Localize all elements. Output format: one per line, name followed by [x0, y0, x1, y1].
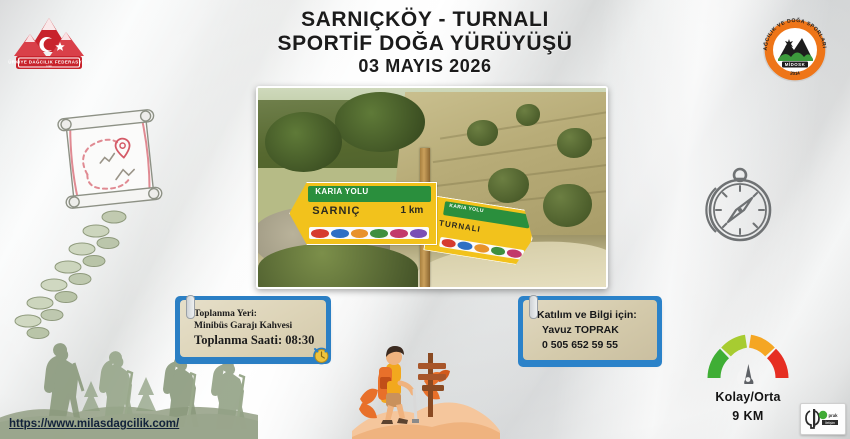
- difficulty-level: Kolay/Orta: [705, 390, 791, 404]
- svg-text:TÜRKİYE DAĞCILIK FEDERASYONU: TÜRKİYE DAĞCILIK FEDERASYONU: [8, 60, 90, 65]
- hiker-illustration: [352, 319, 500, 439]
- alarm-clock-icon: [311, 345, 332, 366]
- federation-logo: TÜRKİYE DAĞCILIK FEDERASYONU 1989: [8, 12, 90, 78]
- sign-sarnic: KARIA YOLU SARNIÇ 1 km: [289, 182, 437, 246]
- svg-text:prak: prak: [829, 413, 839, 418]
- svg-text:MİDOSK: MİDOSK: [785, 62, 806, 67]
- svg-text:2014: 2014: [790, 71, 801, 77]
- meeting-place-value: Minibüs Garajı Kahvesi: [194, 321, 316, 331]
- event-poster: SARNIÇKÖY - TURNALI SPORTİF DOĞA YÜRÜYÜŞ…: [0, 0, 850, 439]
- compass-icon: [690, 158, 786, 254]
- trail-photo: KARIA YOLU TURNALI KARIA YOLU SARNIÇ 1 k…: [256, 86, 608, 289]
- difficulty-gauge: Kolay/Orta 9 KM: [705, 332, 791, 432]
- meeting-time: Toplanma Saati: 08:30: [194, 333, 316, 348]
- contact-info-note: Katılım ve Bilgi için: Yavuz TOPRAK 0 50…: [523, 300, 657, 360]
- distance-value: 9 KM: [705, 409, 791, 423]
- paperclip-icon: [186, 295, 195, 319]
- sign-right-header: KARIA YOLU: [449, 204, 484, 215]
- sign-left-dest: SARNIÇ: [312, 205, 360, 217]
- sponsor-logo: prak İletişim: [800, 403, 846, 435]
- svg-text:İletişim: İletişim: [825, 420, 835, 425]
- sign-right-dest: TURNALI: [438, 219, 481, 234]
- scroll-map-icon: [52, 104, 168, 216]
- contact-heading: Katılım ve Bilgi için:: [537, 309, 647, 321]
- svg-text:1989: 1989: [46, 64, 52, 68]
- contact-phone[interactable]: 0 505 652 59 55: [537, 339, 647, 351]
- sign-left-header: KARIA YOLU: [315, 187, 368, 196]
- club-logo: MİLAS DAĞCILIK VE DOĞA SPORLARI KULÜBÜ 2…: [758, 12, 832, 84]
- meeting-info-note: Toplanma Yeri: Minibüs Garajı Kahvesi To…: [180, 300, 326, 357]
- contact-name: Yavuz TOPRAK: [537, 324, 647, 336]
- website-url[interactable]: https://www.milasdagcilik.com/: [9, 418, 179, 430]
- paperclip-icon: [529, 295, 538, 319]
- meeting-place-label: Toplanma Yeri:: [194, 309, 316, 319]
- sign-left-distance: 1 km: [401, 205, 424, 216]
